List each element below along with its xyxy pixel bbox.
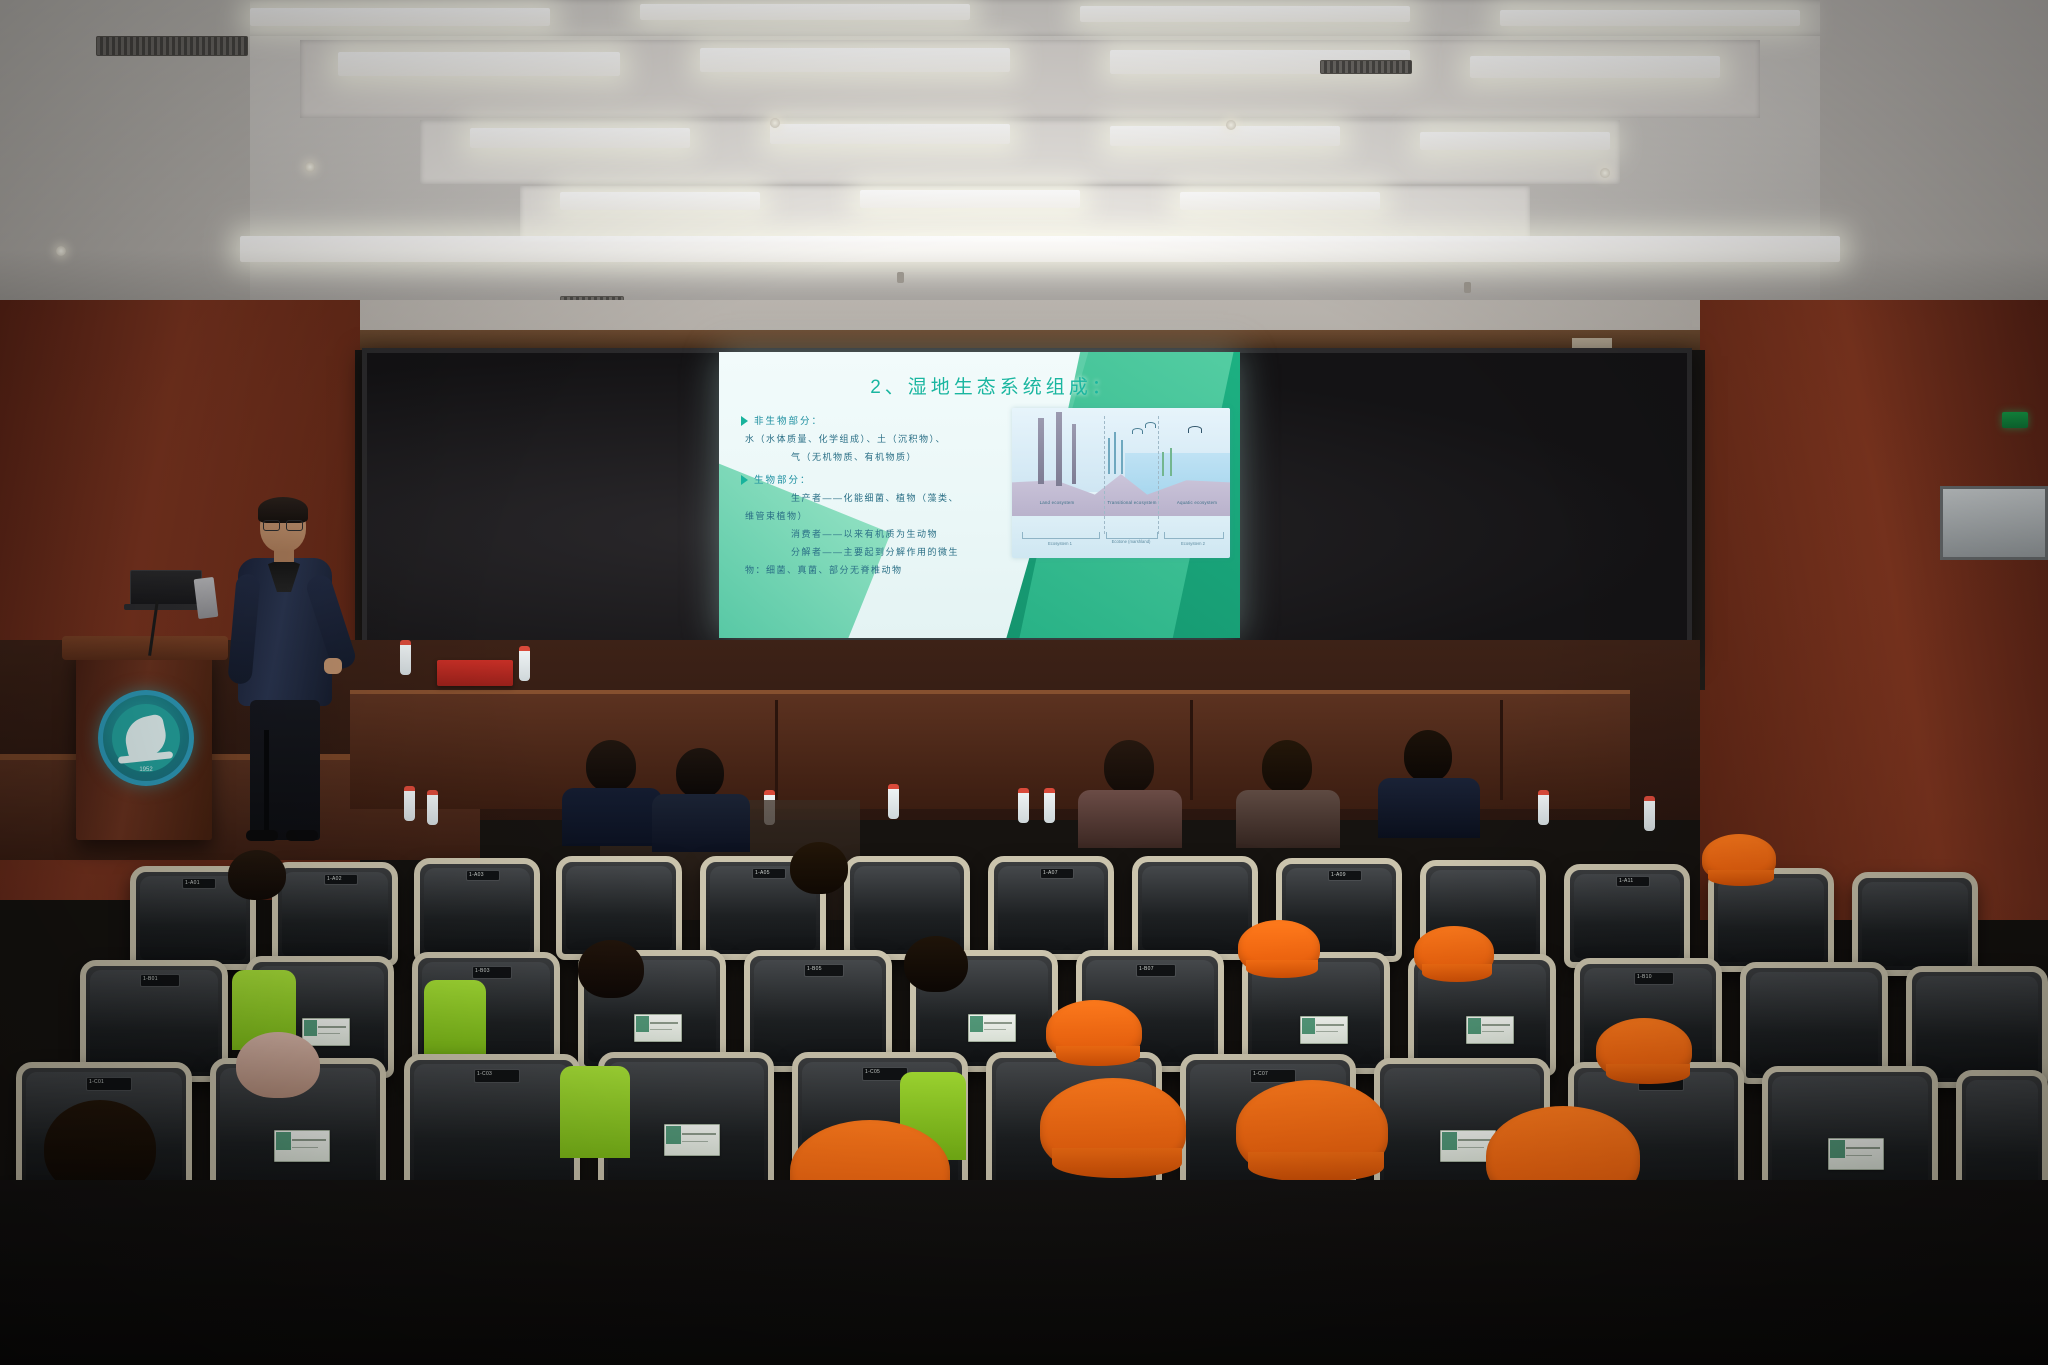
seat-number-plate: 1-B10 — [1634, 972, 1674, 985]
water-bottle — [427, 790, 438, 825]
auditorium-seat[interactable]: 1-A03 — [414, 858, 540, 962]
water-bottle — [888, 784, 899, 819]
seat-number-plate: 1-A03 — [466, 870, 500, 881]
seat-number-plate: 1-A01 — [182, 878, 216, 889]
podium-top — [62, 636, 228, 660]
bullet-triangle-icon — [741, 416, 748, 426]
diagram-label-land: Land ecosystem — [1020, 500, 1094, 505]
ceiling-light-icon — [1226, 120, 1236, 130]
seat-number-plate: 1-B07 — [1136, 964, 1176, 977]
water-bottle — [400, 640, 411, 675]
seat-label-card — [664, 1124, 720, 1156]
seat-label-card — [1300, 1016, 1348, 1044]
laptop-base — [124, 604, 206, 610]
water-bottle — [1044, 788, 1055, 823]
slide-text-line: 物：细菌、真菌、部分无脊椎动物 — [745, 562, 1075, 578]
seat-number-plate: 1-A07 — [1040, 868, 1074, 879]
sprinkler-icon — [897, 272, 904, 283]
seat-number-plate: 1-C01 — [86, 1077, 132, 1091]
sprinkler-icon — [1464, 282, 1471, 293]
lecture-hall-photo: 2、湿地生态系统组成： 非生物部分： 水（水体质量、化学组成）、土（沉积物）、 … — [0, 0, 2048, 1365]
seat-number-plate: 1-A02 — [324, 874, 358, 885]
ceiling-vent — [1320, 60, 1412, 74]
ceiling — [0, 0, 2048, 330]
diagram-bracket-ecosystem-1: Ecosystem 1 — [1022, 541, 1098, 546]
water-bottle — [1538, 790, 1549, 825]
seat-number-plate: 1-A05 — [752, 868, 786, 879]
auditorium-seat[interactable] — [1852, 872, 1978, 976]
seat-label-card — [274, 1130, 330, 1162]
ceiling-light-icon — [770, 118, 780, 128]
right-wall-panel — [1700, 300, 2048, 920]
auditorium-seat[interactable]: 1-A11 — [1564, 864, 1690, 968]
side-display-panel — [1940, 486, 2048, 560]
water-bottle — [1644, 796, 1655, 831]
diagram-bracket-ecotone: Ecotone (marshland) — [1104, 539, 1158, 544]
ceiling-light-icon — [56, 246, 66, 256]
seat-number-plate: 1-C03 — [474, 1069, 520, 1083]
auditorium-seat[interactable]: 1-A07 — [988, 856, 1114, 960]
wetland-diagram: Land ecosystem Transitional ecosystem Aq… — [1012, 408, 1230, 558]
bullet-heading: 非生物部分： — [754, 413, 823, 427]
ceiling-light-icon — [305, 162, 315, 172]
seat-label-card — [1828, 1138, 1884, 1170]
seat-number-plate: 1-C07 — [1250, 1069, 1296, 1083]
seat-number-plate: 1-A11 — [1616, 876, 1650, 887]
water-bottle — [1018, 788, 1029, 823]
seat-label-card — [302, 1018, 350, 1046]
exit-sign-icon — [2002, 412, 2028, 428]
water-bottle — [519, 646, 530, 681]
diagram-label-transitional: Transitional ecosystem — [1104, 500, 1160, 505]
projected-slide: 2、湿地生态系统组成： 非生物部分： 水（水体质量、化学组成）、土（沉积物）、 … — [719, 352, 1240, 638]
desk-name-plate — [437, 660, 513, 686]
bullet-heading: 生物部分： — [754, 472, 812, 486]
seat-label-card — [968, 1014, 1016, 1042]
glasses-icon — [263, 520, 303, 529]
seat-number-plate: 1-B03 — [472, 966, 512, 979]
laptop — [130, 570, 202, 608]
seat-label-card — [634, 1014, 682, 1042]
water-bottle — [404, 786, 415, 821]
floor — [0, 1180, 2048, 1365]
seat-number-plate: 1-B05 — [804, 964, 844, 977]
seat-number-plate: 1-A09 — [1328, 870, 1362, 881]
auditorium-seat[interactable]: 1-A02 — [272, 862, 398, 966]
seat-label-card — [1466, 1016, 1514, 1044]
emblem-year: 1952 — [103, 767, 189, 773]
bullet-triangle-icon — [741, 475, 748, 485]
university-emblem: 1952 — [98, 690, 194, 786]
diagram-bracket-ecosystem-2: Ecosystem 2 — [1164, 541, 1222, 546]
ceiling-light-icon — [1600, 168, 1610, 178]
auditorium-seat[interactable]: 1-C03 — [404, 1054, 580, 1200]
slide-title: 2、湿地生态系统组成： — [761, 372, 1224, 399]
ceiling-vent — [96, 36, 248, 56]
diagram-label-aquatic: Aquatic ecosystem — [1168, 500, 1226, 505]
seat-number-plate: 1-B01 — [140, 974, 180, 987]
presenter — [230, 500, 340, 840]
